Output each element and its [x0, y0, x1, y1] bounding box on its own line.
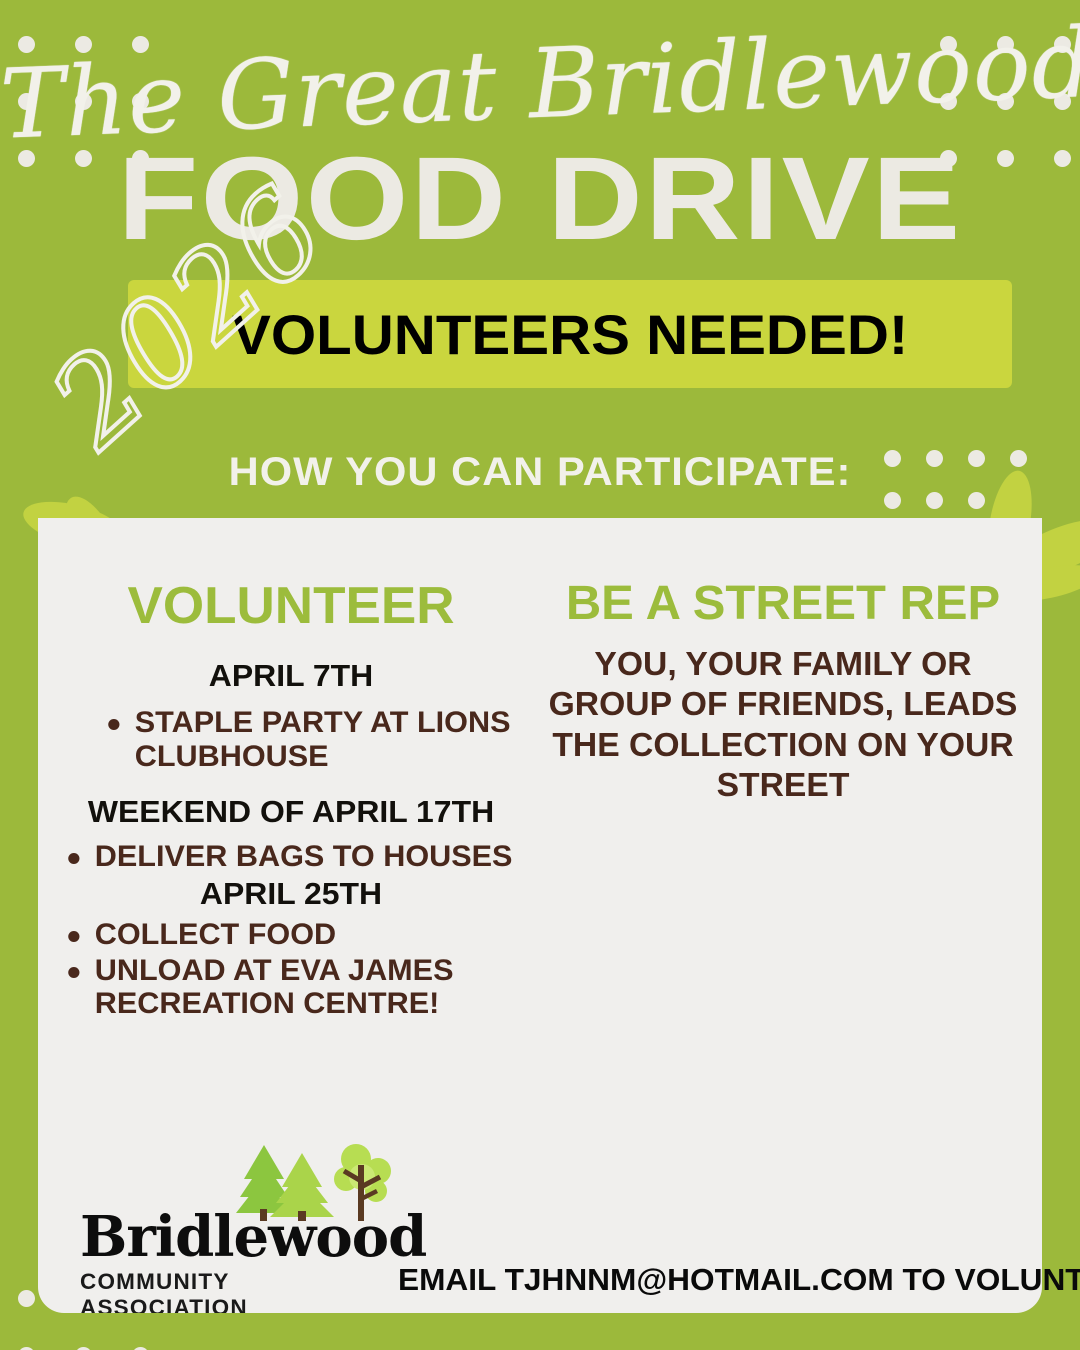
bridlewood-logo: Bridlewood COMMUNITY ASSOCIATION: [80, 1143, 400, 1313]
banner-label: VOLUNTEERS NEEDED!: [232, 302, 908, 367]
page-title: FOOD DRIVE: [0, 140, 1080, 258]
content-card: VOLUNTEER APRIL 7TH STAPLE PARTY AT LION…: [38, 518, 1042, 1313]
participate-label: HOW YOU CAN PARTICIPATE:: [0, 450, 1080, 495]
dot-decoration: [18, 1290, 35, 1307]
date-weekend-april-17: WEEKEND OF APRIL 17TH: [49, 794, 533, 830]
date-april-25: APRIL 25TH: [49, 876, 533, 912]
street-rep-heading: BE A STREET REP: [533, 580, 1033, 628]
poster-canvas: The Great Bridlewood FOOD DRIVE VOLUNTEE…: [0, 0, 1080, 1350]
list-item: STAPLE PARTY AT LIONS CLUBHOUSE: [96, 706, 535, 774]
task-list-april-7: STAPLE PARTY AT LIONS CLUBHOUSE: [96, 706, 526, 774]
task-list-april-17: DELIVER BAGS TO HOUSES: [56, 840, 526, 874]
list-item: COLLECT FOOD: [56, 918, 535, 952]
street-rep-column: BE A STREET REP YOU, YOUR FAMILY OR GROU…: [538, 580, 1028, 805]
task-list-april-25: COLLECT FOOD UNLOAD AT EVA JAMES RECREAT…: [56, 918, 526, 1022]
logo-subtitle: COMMUNITY ASSOCIATION: [80, 1269, 400, 1313]
volunteer-heading: VOLUNTEER: [51, 580, 530, 632]
trees-icon: [230, 1143, 400, 1215]
list-item: UNLOAD AT EVA JAMES RECREATION CENTRE!: [56, 954, 535, 1022]
volunteer-column: VOLUNTEER APRIL 7TH STAPLE PARTY AT LION…: [56, 580, 526, 1023]
list-item: DELIVER BAGS TO HOUSES: [56, 840, 535, 874]
street-rep-body: YOU, YOUR FAMILY OR GROUP OF FRIENDS, LE…: [533, 644, 1033, 805]
date-april-7: APRIL 7TH: [49, 658, 533, 694]
email-cta: EMAIL TJHNNM@HOTMAIL.COM TO VOLUNTEER!: [398, 1262, 1080, 1298]
